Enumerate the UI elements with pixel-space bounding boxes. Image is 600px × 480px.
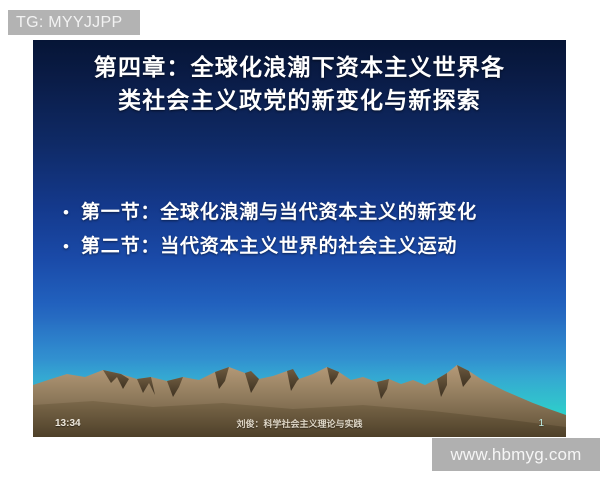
mountain-shadow-facet <box>103 370 129 389</box>
bullet-dot-icon: • <box>63 204 81 221</box>
slide-page-number: 1 <box>474 418 544 429</box>
mountain-foreground <box>33 401 566 437</box>
slide-title-line-2: 类社会主义政党的新变化与新探索 <box>51 85 548 118</box>
slide-title: 第四章：全球化浪潮下资本主义世界各 类社会主义政党的新变化与新探索 <box>33 52 566 117</box>
site-watermark-badge: www.hbmyg.com <box>432 438 600 471</box>
mountain-shadow-facet <box>245 371 259 393</box>
screenshot-canvas: 第四章：全球化浪潮下资本主义世界各 类社会主义政党的新变化与新探索 • 第一节：… <box>0 0 600 480</box>
mountain-shadow-facet <box>167 377 183 397</box>
slide-footer: 13:34 刘俊：科学社会主义理论与实践 1 <box>33 416 566 430</box>
bullet-text: 第二节：当代资本主义世界的社会主义运动 <box>81 234 457 259</box>
tg-watermark-badge: TG: MYYJJPP <box>8 10 140 35</box>
slide-title-line-1: 第四章：全球化浪潮下资本主义世界各 <box>51 52 548 85</box>
sky-gradient-overlay <box>33 317 566 437</box>
mountain-shadow-facet <box>437 373 447 397</box>
mountain-range-graphic <box>33 327 566 437</box>
site-watermark-label: www.hbmyg.com <box>450 445 581 465</box>
mountain-shadow-facet <box>327 367 339 385</box>
footer-author-title: 刘俊：科学社会主义理论与实践 <box>125 417 474 430</box>
list-item: • 第二节：当代资本主义世界的社会主义运动 <box>63 234 543 259</box>
slide-bullet-list: • 第一节：全球化浪潮与当代资本主义的新变化 • 第二节：当代资本主义世界的社会… <box>63 200 543 267</box>
tg-watermark-label: TG: MYYJJPP <box>16 14 122 32</box>
mountain-shadow-facet <box>457 365 471 387</box>
footer-time: 13:34 <box>55 418 125 429</box>
mountain-shadow-facet <box>287 369 299 391</box>
bullet-dot-icon: • <box>63 238 81 255</box>
list-item: • 第一节：全球化浪潮与当代资本主义的新变化 <box>63 200 543 225</box>
mountain-shadow-facet <box>137 377 155 395</box>
mountain-shadow-facet <box>377 379 389 399</box>
presentation-slide: 第四章：全球化浪潮下资本主义世界各 类社会主义政党的新变化与新探索 • 第一节：… <box>33 40 566 437</box>
bullet-text: 第一节：全球化浪潮与当代资本主义的新变化 <box>81 200 477 225</box>
mountain-shadow-facet <box>215 367 229 389</box>
mountain-ridge-light <box>33 365 566 437</box>
